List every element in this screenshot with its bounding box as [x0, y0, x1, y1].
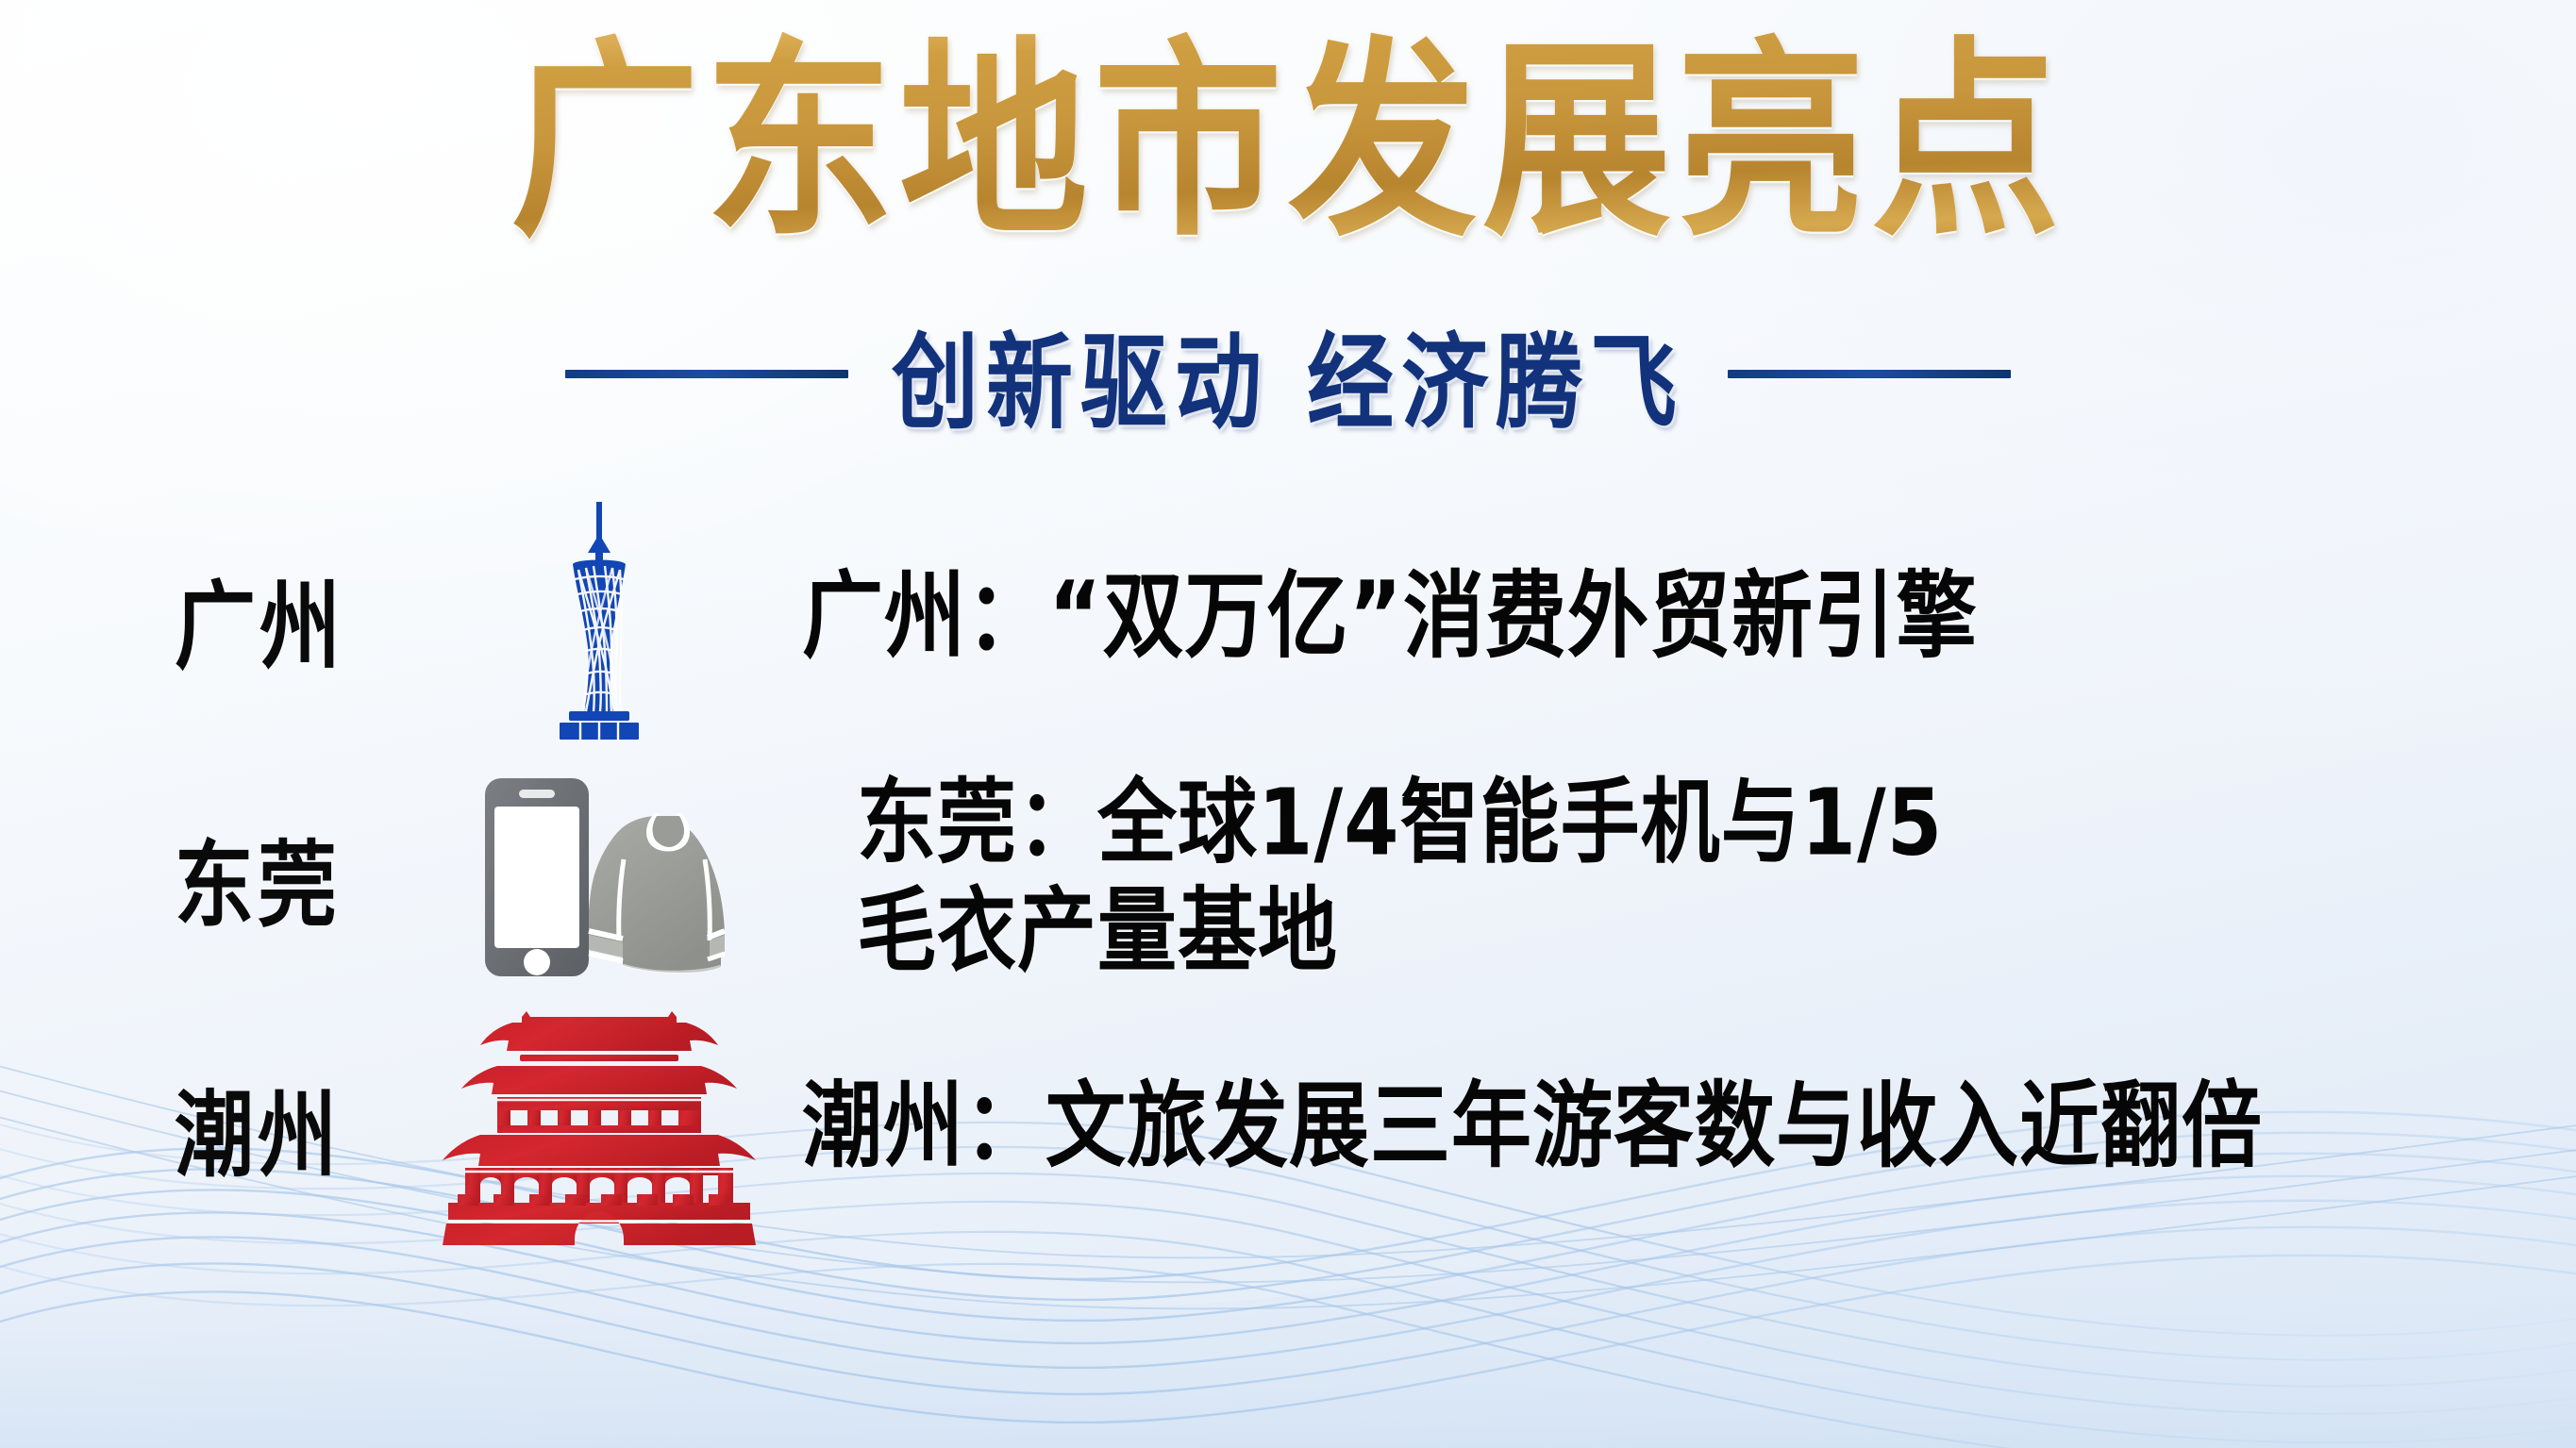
highlight-rows: 广州 [0, 491, 2576, 1245]
highlight-row-dongguan: 东莞 [0, 745, 2576, 1009]
highlight-row-guangzhou: 广州 [0, 491, 2576, 745]
icon-cell-chaozhou [396, 1005, 802, 1250]
highlight-text-dongguan-line2: 毛衣产量基地 [857, 877, 2576, 986]
smartphone-shape [485, 778, 589, 976]
sweater-shape [574, 816, 727, 973]
icon-cell-dongguan [396, 755, 802, 1000]
poster-root: 广东地市发展亮点 创新驱动 经济腾飞 广州 [0, 0, 2576, 1448]
highlight-text-chaozhou: 潮州：文旅发展三年游客数与收入近翻倍 [802, 1073, 2576, 1182]
page-title: 广东地市发展亮点 [510, 32, 2066, 254]
title-block: 广东地市发展亮点 [0, 32, 2576, 230]
subtitle-rule-right [1728, 370, 2011, 378]
city-label-chaozhou: 潮州 [0, 1060, 396, 1195]
highlight-text-guangzhou: 广州：“双万亿”消费外贸新引擎 [802, 562, 2576, 674]
page-subtitle: 创新驱动 经济腾飞 [892, 299, 1684, 450]
subtitle-block: 创新驱动 经济腾飞 [0, 311, 2576, 437]
highlight-text-dongguan-line1: 东莞：全球1/4智能手机与1/5 [857, 769, 1943, 876]
gate-tower-icon [439, 1009, 760, 1245]
city-label-guangzhou: 广州 [0, 548, 396, 688]
subtitle-rule-left [565, 370, 848, 378]
icon-cell-guangzhou [396, 495, 802, 741]
highlight-row-chaozhou: 潮州 [0, 1009, 2576, 1245]
canton-tower-icon [505, 496, 694, 740]
city-label-dongguan: 东莞 [0, 810, 396, 945]
smartphone-sweater-icon [472, 769, 727, 986]
highlight-text-dongguan: 东莞：全球1/4智能手机与1/5 毛衣产量基地 [802, 769, 2576, 986]
